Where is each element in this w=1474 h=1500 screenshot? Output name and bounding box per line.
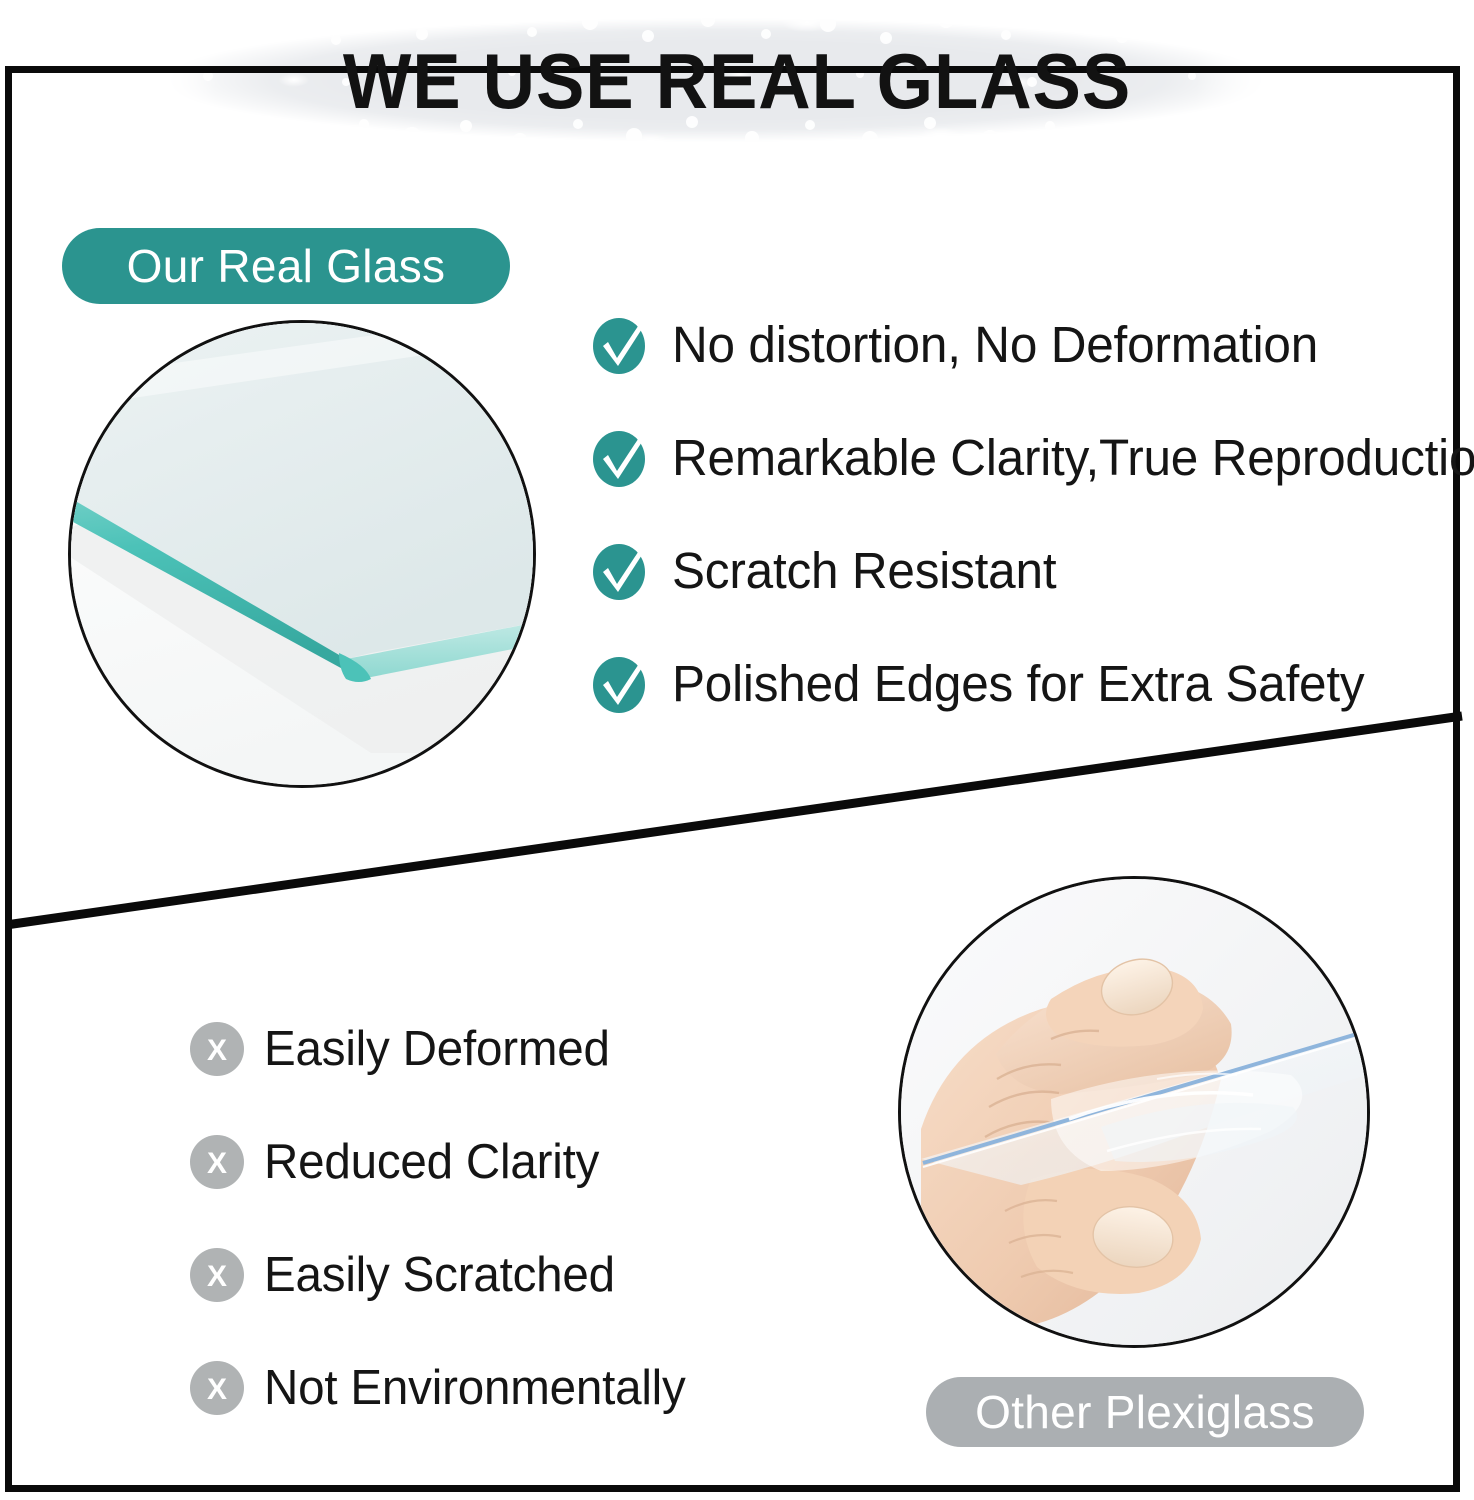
list-item: Scratch Resistant bbox=[592, 514, 1474, 627]
list-item-label: Not Environmentally bbox=[264, 1360, 686, 1416]
list-item: Polished Edges for Extra Safety bbox=[592, 627, 1474, 740]
list-item-label: Remarkable Clarity,True Reproduction bbox=[672, 428, 1474, 487]
list-item: X Easily Deformed bbox=[190, 992, 699, 1105]
x-circle-icon: X bbox=[190, 1135, 244, 1189]
list-item: No distortion, No Deformation bbox=[592, 288, 1474, 401]
list-item-label: Easily Scratched bbox=[264, 1247, 615, 1303]
list-item-label: Polished Edges for Extra Safety bbox=[672, 654, 1364, 713]
x-circle-icon: X bbox=[190, 1248, 244, 1302]
check-circle-icon bbox=[592, 429, 650, 487]
pros-list: No distortion, No Deformation Remarkable… bbox=[592, 288, 1474, 740]
list-item: X Reduced Clarity bbox=[190, 1105, 699, 1218]
list-item: X Not Environmentally bbox=[190, 1331, 699, 1444]
list-item: X Easily Scratched bbox=[190, 1218, 699, 1331]
svg-text:X: X bbox=[207, 1373, 227, 1406]
glass-corner-illustration bbox=[71, 323, 533, 785]
x-circle-icon: X bbox=[190, 1022, 244, 1076]
list-item-label: Reduced Clarity bbox=[264, 1134, 599, 1190]
list-item-label: Easily Deformed bbox=[264, 1021, 610, 1077]
check-circle-icon bbox=[592, 655, 650, 713]
page-title: WE USE REAL GLASS bbox=[52, 36, 1423, 127]
svg-text:X: X bbox=[207, 1034, 227, 1067]
hand-bending-plexiglass-illustration bbox=[901, 879, 1367, 1345]
check-circle-icon bbox=[592, 316, 650, 374]
cons-list: X Easily Deformed X Reduced Clarity X bbox=[190, 992, 699, 1444]
list-item: Remarkable Clarity,True Reproduction bbox=[592, 401, 1474, 514]
badge-other-plexiglass: Other Plexiglass bbox=[926, 1377, 1364, 1447]
plexiglass-photo bbox=[898, 876, 1370, 1348]
check-circle-icon bbox=[592, 542, 650, 600]
badge-our-real-glass: Our Real Glass bbox=[62, 228, 510, 304]
real-glass-photo bbox=[68, 320, 536, 788]
x-circle-icon: X bbox=[190, 1361, 244, 1415]
svg-text:X: X bbox=[207, 1147, 227, 1180]
list-item-label: No distortion, No Deformation bbox=[672, 315, 1318, 374]
infographic-canvas: WE USE REAL GLASS Our Real Glass bbox=[0, 0, 1474, 1500]
svg-text:X: X bbox=[207, 1260, 227, 1293]
list-item-label: Scratch Resistant bbox=[672, 541, 1056, 600]
